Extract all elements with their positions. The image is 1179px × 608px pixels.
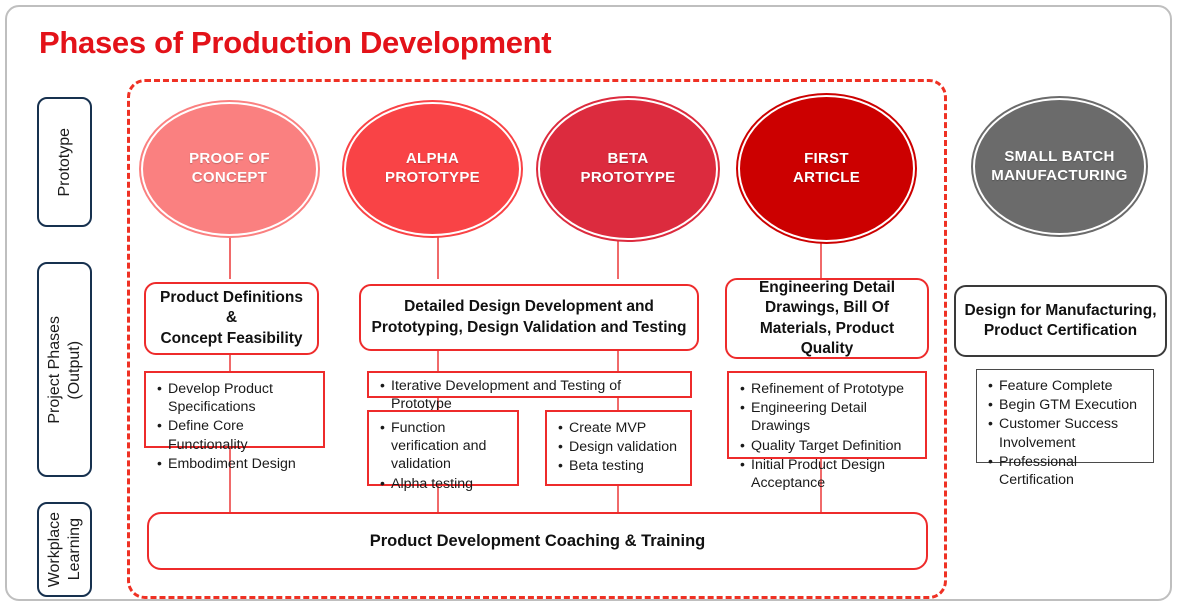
detail-list-concept-items: Develop Product Specifications Define Co… (154, 380, 315, 473)
connector-iterative-left (437, 351, 439, 371)
row-label-prototype: Prototype (37, 97, 92, 227)
list-item: Develop Product Specifications (168, 380, 315, 416)
output-box-design[interactable]: Detailed Design Development and Prototyp… (359, 284, 699, 351)
detail-list-first-article-items: Refinement of Prototype Engineering Deta… (737, 380, 917, 492)
circle-alpha-prototype-label: ALPHA PROTOTYPE (385, 150, 480, 188)
output-box-design-text: Detailed Design Development and Prototyp… (372, 297, 687, 337)
row-label-prototype-text: Prototype (55, 128, 75, 196)
bottom-bar-label: Product Development Coaching & Training (370, 532, 706, 551)
row-label-project-phases-text: Project Phases (Output) (45, 316, 85, 424)
circle-beta-prototype-label: BETA PROTOTYPE (581, 150, 676, 188)
diagram-frame: Phases of Production Development Prototy… (5, 5, 1172, 601)
output-box-dfm[interactable]: Design for Manufacturing, Product Certif… (954, 285, 1167, 357)
bottom-bar-coaching[interactable]: Product Development Coaching & Training (147, 512, 928, 570)
detail-list-small-batch-items: Feature Complete Begin GTM Execution Cus… (985, 377, 1145, 489)
list-item: Beta testing (569, 457, 682, 475)
list-item: Begin GTM Execution (999, 396, 1145, 414)
circle-first-article[interactable]: FIRST ARTICLE (738, 95, 915, 242)
page-title: Phases of Production Development (39, 25, 551, 61)
list-item: Alpha testing (391, 475, 509, 493)
connector-alpha (437, 236, 439, 279)
connector-first-article (820, 236, 822, 279)
list-item: Customer Success Involvement (999, 415, 1145, 451)
detail-list-beta[interactable]: Create MVP Design validation Beta testin… (545, 410, 692, 486)
list-item: Engineering Detail Drawings (751, 399, 917, 435)
detail-list-small-batch[interactable]: Feature Complete Begin GTM Execution Cus… (976, 369, 1154, 463)
list-item: Feature Complete (999, 377, 1145, 395)
output-box-dfm-text: Design for Manufacturing, Product Certif… (964, 301, 1156, 341)
detail-list-alpha[interactable]: Function verification and validation Alp… (367, 410, 519, 486)
detail-list-first-article[interactable]: Refinement of Prototype Engineering Deta… (727, 371, 927, 459)
list-item: Design validation (569, 438, 682, 456)
circle-first-article-label: FIRST ARTICLE (793, 150, 860, 188)
circle-beta-prototype[interactable]: BETA PROTOTYPE (538, 98, 718, 240)
list-item: Define Core Functionality (168, 417, 315, 453)
list-item: Create MVP (569, 419, 682, 437)
row-label-project-phases: Project Phases (Output) (37, 262, 92, 477)
output-box-concept-text: Product Definitions & Concept Feasibilit… (154, 288, 309, 348)
list-item: Iterative Development and Testing of Pro… (391, 377, 682, 413)
circle-small-batch-manufacturing-label: SMALL BATCH MANUFACTURING (991, 148, 1127, 186)
row-label-workplace-learning: Workplace Learning (37, 502, 92, 597)
list-item: Professional Certification (999, 453, 1145, 489)
detail-list-iterative-items: Iterative Development and Testing of Pro… (377, 377, 682, 413)
circle-proof-of-concept-label: PROOF OF CONCEPT (189, 150, 270, 188)
list-item: Embodiment Design (168, 455, 315, 473)
detail-list-beta-items: Create MVP Design validation Beta testin… (555, 419, 682, 476)
list-item: Refinement of Prototype (751, 380, 917, 398)
list-item: Quality Target Definition (751, 437, 917, 455)
detail-list-alpha-items: Function verification and validation Alp… (377, 419, 509, 493)
list-item: Function verification and validation (391, 419, 509, 474)
output-box-engineering-text: Engineering Detail Drawings, Bill Of Mat… (735, 278, 919, 359)
connector-iterative-right (617, 351, 619, 371)
output-box-engineering[interactable]: Engineering Detail Drawings, Bill Of Mat… (725, 278, 929, 359)
circle-alpha-prototype[interactable]: ALPHA PROTOTYPE (344, 102, 521, 236)
connector-beta (617, 236, 619, 279)
output-box-concept[interactable]: Product Definitions & Concept Feasibilit… (144, 282, 319, 355)
circle-small-batch-manufacturing[interactable]: SMALL BATCH MANUFACTURING (973, 98, 1146, 235)
connector-bottom-3 (617, 486, 619, 512)
connector-poc (229, 236, 231, 279)
list-item: Initial Product Design Acceptance (751, 456, 917, 492)
detail-list-iterative[interactable]: Iterative Development and Testing of Pro… (367, 371, 692, 398)
connector-concept-list (229, 355, 231, 371)
detail-list-concept[interactable]: Develop Product Specifications Define Co… (144, 371, 325, 448)
row-label-workplace-learning-text: Workplace Learning (45, 512, 85, 587)
circle-proof-of-concept[interactable]: PROOF OF CONCEPT (141, 102, 318, 236)
